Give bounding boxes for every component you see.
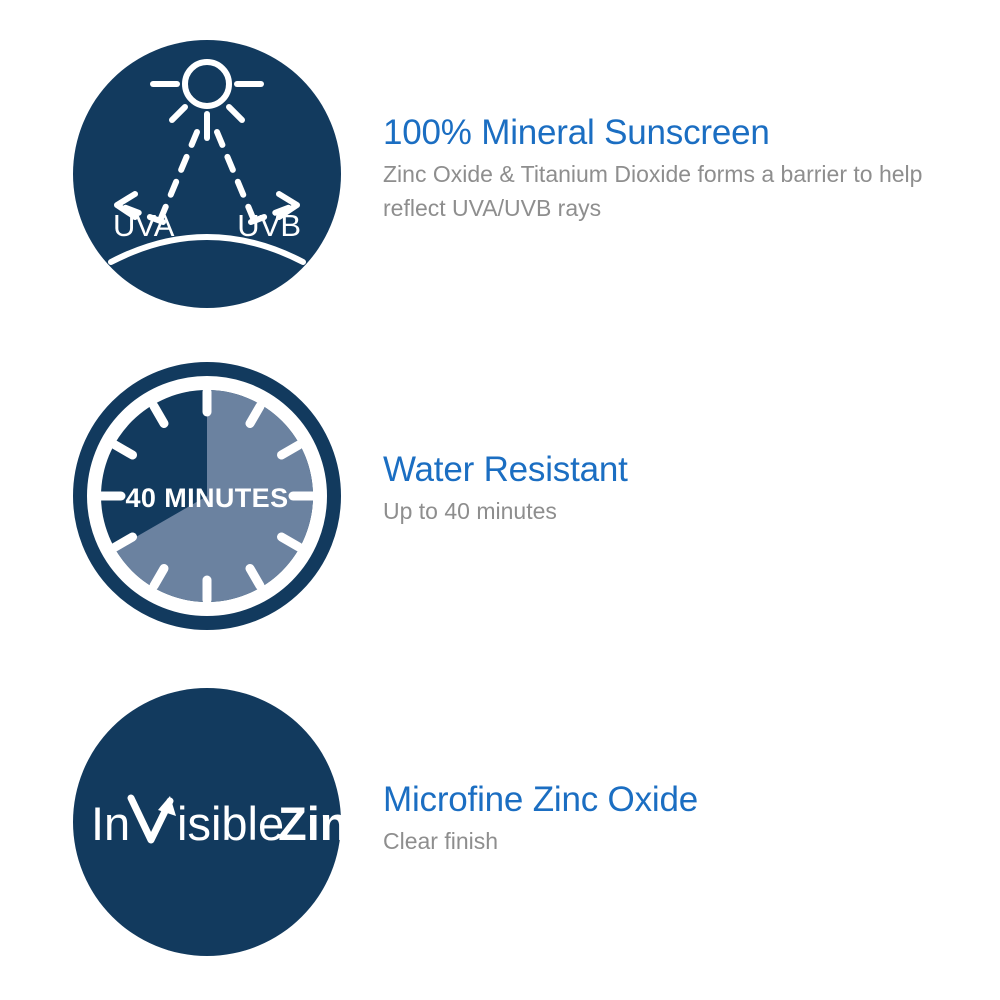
clock-40-minutes-icon: 40 MINUTES [73, 362, 341, 630]
feature-description: Zinc Oxide & Titanium Dioxide forms a ba… [383, 158, 963, 225]
feature-title: Water Resistant [383, 450, 1000, 489]
product-features-panel: UVA UVB 100% Mineral Sunscreen Zinc Oxid… [0, 0, 1000, 1000]
feature-row: In isible Zinc ™ Microfine Zinc Oxide Cl… [0, 688, 1000, 956]
feature-row: UVA UVB 100% Mineral Sunscreen Zinc Oxid… [0, 40, 1000, 308]
invisible-zinc-logo-icon: In isible Zinc ™ [73, 688, 341, 956]
logo-text-zinc: Zinc [278, 797, 341, 850]
feature-text-block: Microfine Zinc Oxide Clear finish [383, 688, 1000, 859]
uva-uvb-sun-reflect-icon: UVA UVB [73, 40, 341, 308]
icon-label-uvb: UVB [237, 208, 301, 243]
logo-text-in: In [91, 797, 130, 850]
feature-description: Up to 40 minutes [383, 495, 963, 528]
feature-title: 100% Mineral Sunscreen [383, 113, 1000, 152]
logo-text-isible: isible [177, 797, 284, 850]
feature-description: Clear finish [383, 825, 963, 858]
icon-label-uva: UVA [113, 208, 175, 243]
dial-label: 40 MINUTES [125, 483, 288, 513]
feature-title: Microfine Zinc Oxide [383, 780, 1000, 819]
feature-row: 40 MINUTES Water Resistant Up to 40 minu… [0, 362, 1000, 630]
feature-text-block: 100% Mineral Sunscreen Zinc Oxide & Tita… [383, 40, 1000, 225]
feature-text-block: Water Resistant Up to 40 minutes [383, 362, 1000, 529]
